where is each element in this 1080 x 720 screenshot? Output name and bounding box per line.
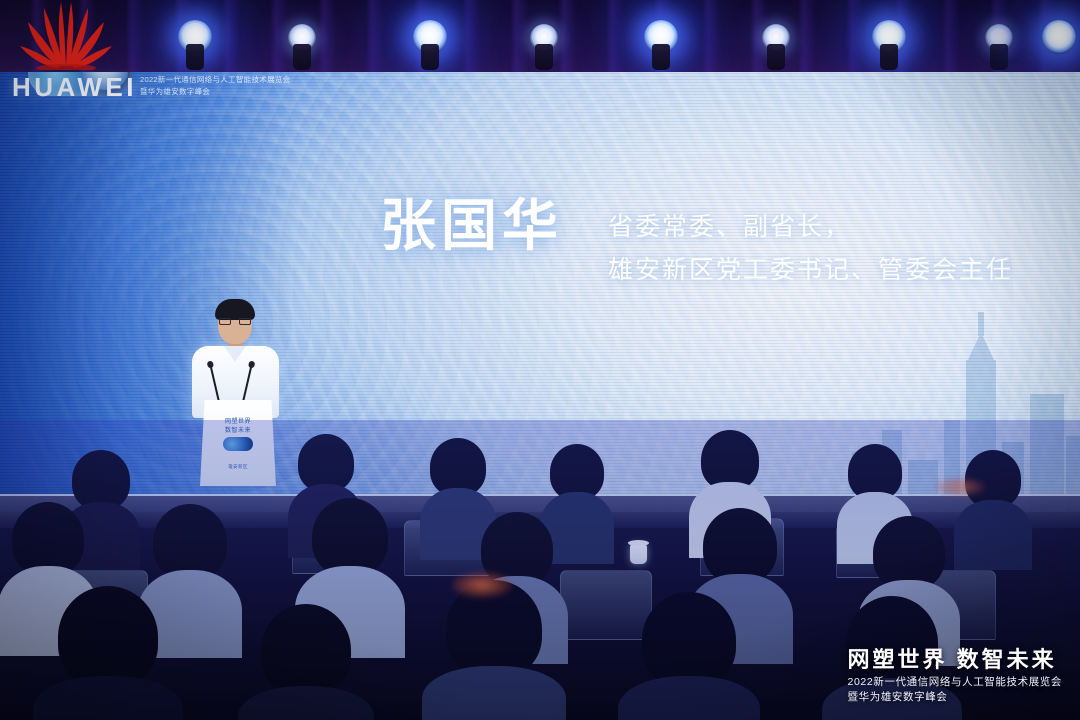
warm-accent-light — [452, 572, 512, 598]
lidded-teacup-icon — [630, 544, 647, 564]
audience-head — [72, 450, 130, 510]
huawei-petal-flower-icon — [14, 0, 118, 70]
audience-member — [955, 450, 1031, 568]
audience-member — [430, 580, 558, 720]
speaker-name-block: 张国华 — [380, 196, 563, 256]
speaker-title-line-2: 雄安新区党工委书记、管委会主任 — [608, 249, 1013, 292]
spotlight-housing-icon — [990, 44, 1008, 70]
event-photo-scene: HUAWEI 网塑世界 数智未来 2022新一代通 — [0, 0, 1080, 720]
spotlight-housing-icon — [421, 44, 439, 70]
audience-member — [246, 604, 366, 720]
event-subtitle-2: 暨华为雄安数字峰会 — [140, 86, 290, 97]
spotlight-housing-icon — [535, 44, 553, 70]
event-subtitle-1: 2022新一代通信网络与人工智能技术展览会 — [140, 74, 290, 85]
stage-spotlight-icon — [1042, 20, 1076, 54]
audience-head — [153, 504, 227, 580]
warm-accent-light — [935, 478, 985, 496]
stage-light-truss — [0, 0, 1080, 72]
audience-head — [261, 604, 351, 696]
audience-member — [40, 586, 176, 720]
corner-event-subtitle-1: 2022新一代通信网络与人工智能技术展览会 — [848, 675, 1062, 691]
speaker-title-block: 省委常委、副省长， 雄安新区党工委书记、管委会主任 — [608, 206, 1013, 292]
audience-member — [626, 592, 752, 720]
audience-shoulders — [618, 676, 760, 720]
audience-head — [873, 516, 945, 590]
speaker-title-line-1: 省委常委、副省长， — [608, 206, 1013, 249]
audience-shoulders — [33, 676, 183, 720]
audience-head — [12, 502, 84, 576]
spotlight-housing-icon — [767, 44, 785, 70]
corner-event-lockup: 网塑世界 数智未来 2022新一代通信网络与人工智能技术展览会 暨华为雄安数字峰… — [848, 646, 1062, 706]
audience-head — [642, 592, 736, 688]
huawei-wordmark: HUAWEI — [12, 72, 137, 103]
audience-shoulders — [422, 666, 566, 720]
spotlight-housing-icon — [652, 44, 670, 70]
audience-head — [312, 498, 388, 576]
spotlight-housing-icon — [880, 44, 898, 70]
corner-event-subtitle-2: 暨华为雄安数字峰会 — [848, 690, 1062, 706]
audience-shoulders — [954, 500, 1032, 570]
audience-head — [701, 430, 759, 490]
audience-head — [58, 586, 158, 688]
speaker-name: 张国华 — [380, 196, 563, 256]
eyeglasses-icon — [219, 318, 251, 325]
presenter-hair — [215, 299, 255, 320]
audience-head — [703, 508, 777, 584]
spotlight-housing-icon — [186, 44, 204, 70]
spotlight-housing-icon — [293, 44, 311, 70]
audience-shoulders — [238, 686, 374, 720]
corner-event-title: 网塑世界 数智未来 — [848, 646, 1062, 674]
